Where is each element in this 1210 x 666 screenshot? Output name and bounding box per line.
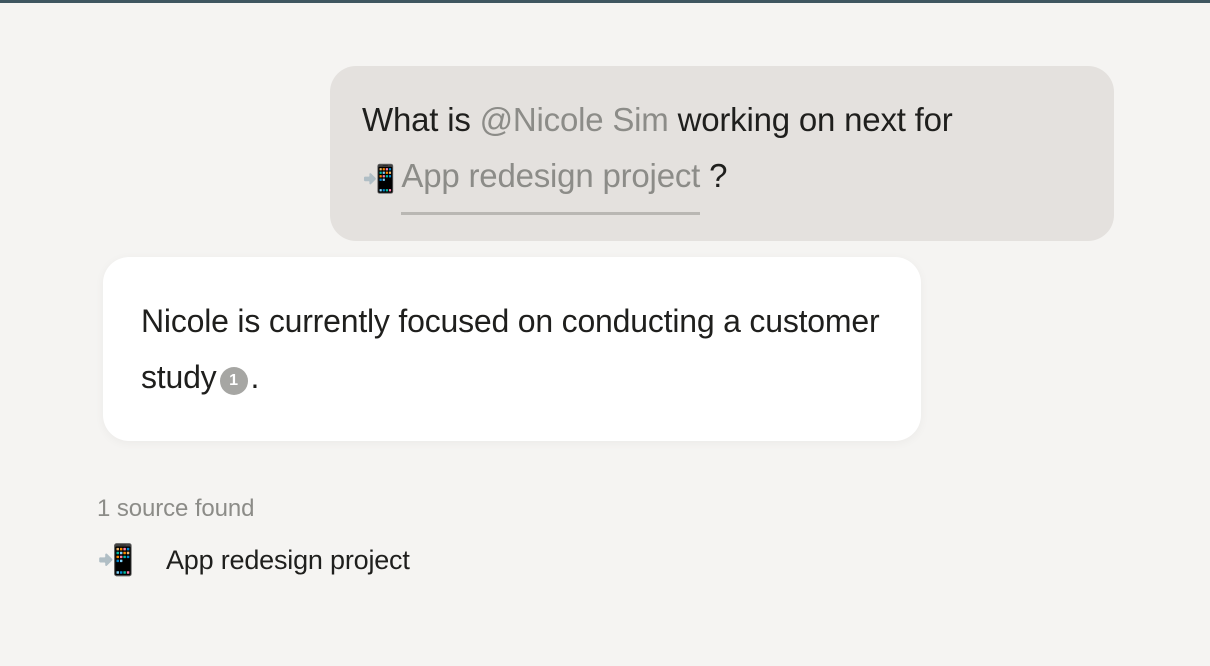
source-item-label: App redesign project bbox=[166, 545, 410, 576]
question-prefix-text: What is bbox=[362, 101, 480, 138]
sources-count-label: 1 source found bbox=[97, 493, 697, 525]
question-line-1: What is @Nicole Sim working on next for bbox=[362, 92, 1082, 148]
answer-card: Nicole is currently focused on conductin… bbox=[103, 257, 921, 441]
citation-badge-1[interactable]: 1 bbox=[220, 367, 248, 395]
question-middle-text: working on next for bbox=[669, 101, 953, 138]
question-mark: ? bbox=[709, 157, 727, 194]
answer-trailing-punctuation: . bbox=[251, 359, 260, 395]
mobile-phone-with-arrow-icon: 📲 bbox=[97, 546, 139, 576]
source-list-item[interactable]: 📲 App redesign project bbox=[97, 545, 697, 576]
mobile-phone-with-arrow-icon: 📲 bbox=[362, 166, 395, 193]
sources-section: 1 source found 📲 App redesign project bbox=[97, 493, 697, 576]
answer-text: Nicole is currently focused on conductin… bbox=[141, 293, 883, 405]
mention-nicole-sim[interactable]: @Nicole Sim bbox=[480, 101, 669, 138]
project-chip[interactable]: 📲App redesign project bbox=[362, 148, 700, 215]
question-bubble: What is @Nicole Sim working on next for … bbox=[330, 66, 1114, 241]
top-accent-bar bbox=[0, 0, 1210, 3]
project-chip-label: App redesign project bbox=[401, 148, 700, 215]
question-line-2: 📲App redesign project? bbox=[362, 148, 1082, 215]
